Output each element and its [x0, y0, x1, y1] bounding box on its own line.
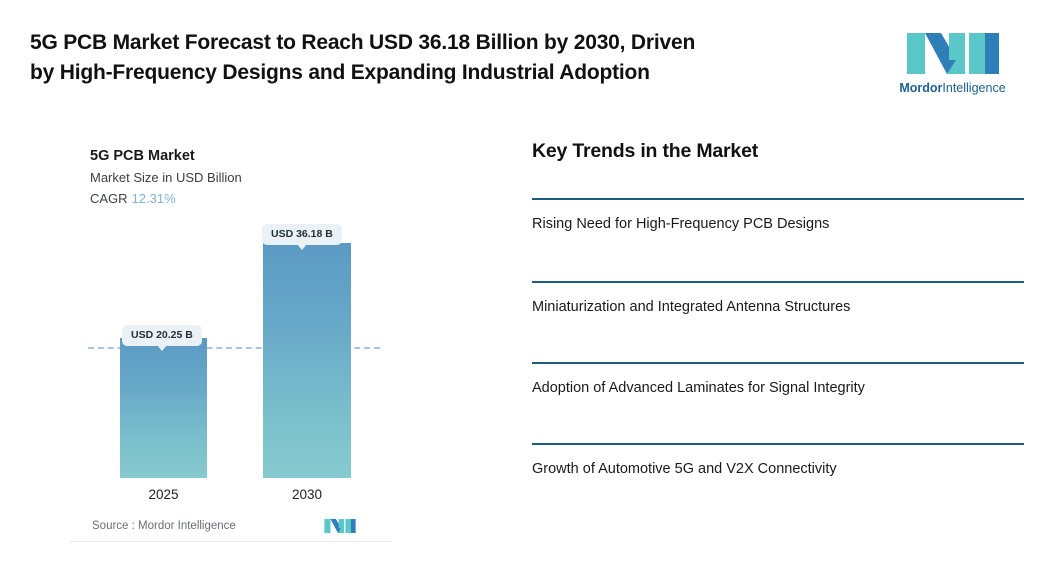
- bar-2025: [120, 338, 207, 478]
- trend-item[interactable]: Miniaturization and Integrated Antenna S…: [532, 281, 1024, 315]
- page-title-line-2: by High-Frequency Designs and Expanding …: [30, 58, 860, 88]
- page-title: 5G PCB Market Forecast to Reach USD 36.1…: [30, 28, 860, 88]
- x-axis-tick-2030: 2030: [263, 487, 351, 502]
- trend-item[interactable]: Rising Need for High-Frequency PCB Desig…: [532, 198, 1024, 232]
- bar-value-label-2030: USD 36.18 B: [262, 224, 342, 245]
- trend-item-label: Growth of Automotive 5G and V2X Connecti…: [532, 445, 1024, 477]
- mordor-logo-mark-small: [323, 517, 357, 535]
- trend-item[interactable]: Growth of Automotive 5G and V2X Connecti…: [532, 443, 1024, 477]
- trend-item-label: Rising Need for High-Frequency PCB Desig…: [532, 200, 1024, 232]
- infographic-page: 5G PCB Market Forecast to Reach USD 36.1…: [0, 0, 1055, 571]
- mordor-intelligence-logo: MordorIntelligence: [895, 30, 1010, 102]
- brand-name-primary: Mordor: [899, 81, 942, 95]
- trend-item-label: Adoption of Advanced Laminates for Signa…: [532, 364, 1024, 396]
- bar-2030: [263, 243, 351, 478]
- chart-plot-area: USD 20.25 B USD 36.18 B 2025 2030: [70, 140, 392, 542]
- trend-item-label: Miniaturization and Integrated Antenna S…: [532, 283, 1024, 315]
- key-trends-panel: Key Trends in the Market Rising Need for…: [532, 140, 1024, 163]
- chart-source-label: Source : Mordor Intelligence: [92, 520, 236, 532]
- brand-wordmark: MordorIntelligence: [895, 81, 1010, 95]
- bar-value-label-2025: USD 20.25 B: [122, 325, 202, 346]
- brand-name-secondary: Intelligence: [942, 81, 1005, 95]
- market-size-chart-card: 5G PCB Market Market Size in USD Billion…: [70, 140, 392, 542]
- page-title-line-1: 5G PCB Market Forecast to Reach USD 36.1…: [30, 28, 860, 58]
- key-trends-heading: Key Trends in the Market: [532, 140, 1024, 163]
- x-axis-tick-2025: 2025: [120, 487, 207, 502]
- mordor-logo-mark: [903, 30, 1003, 77]
- trend-item[interactable]: Adoption of Advanced Laminates for Signa…: [532, 362, 1024, 396]
